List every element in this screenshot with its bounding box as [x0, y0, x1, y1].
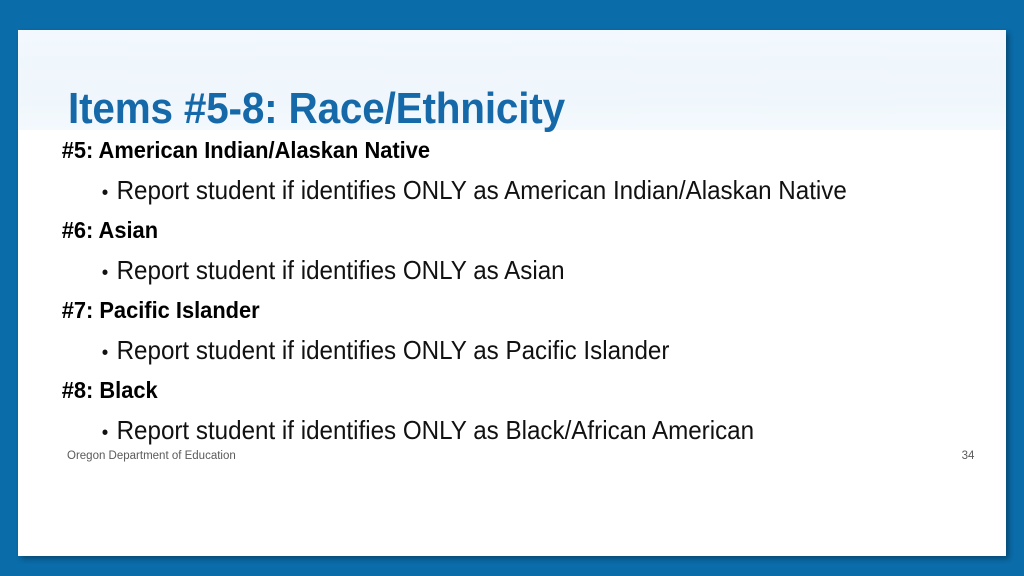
slide-card: Items #5-8: Race/Ethnicity #5: American … [18, 30, 1006, 556]
item-heading: #5: American Indian/Alaskan Native [18, 130, 957, 170]
list-item: #8: Black •Report student if identifies … [18, 370, 1006, 450]
list-item: #5: American Indian/Alaskan Native •Repo… [18, 130, 1006, 210]
item-detail-text: Report student if identifies ONLY as Bla… [117, 415, 755, 445]
footer-organization: Oregon Department of Education [67, 450, 236, 462]
item-heading: #6: Asian [18, 210, 957, 250]
item-detail-text: Report student if identifies ONLY as Pac… [117, 335, 670, 365]
item-heading: #8: Black [18, 370, 957, 410]
item-heading: #7: Pacific Islander [18, 290, 957, 330]
item-detail-text: Report student if identifies ONLY as Asi… [117, 255, 565, 285]
bullet-icon: • [102, 333, 117, 373]
bullet-icon: • [102, 173, 117, 213]
bullet-icon: • [102, 413, 117, 453]
item-detail: •Report student if identifies ONLY as As… [18, 250, 937, 290]
list-item: #6: Asian •Report student if identifies … [18, 210, 1006, 290]
item-detail: •Report student if identifies ONLY as Bl… [18, 410, 937, 450]
slide-frame: Items #5-8: Race/Ethnicity #5: American … [0, 0, 1024, 576]
slide-title: Items #5-8: Race/Ethnicity [68, 86, 565, 132]
list-item: #7: Pacific Islander •Report student if … [18, 290, 1006, 370]
item-detail: •Report student if identifies ONLY as Pa… [18, 330, 937, 370]
footer-page-number: 34 [948, 450, 988, 462]
slide-body: #5: American Indian/Alaskan Native •Repo… [18, 130, 1006, 450]
item-detail-text: Report student if identifies ONLY as Ame… [117, 175, 847, 205]
bullet-icon: • [102, 253, 117, 293]
slide-footer: Oregon Department of Education 34 [18, 450, 1006, 490]
item-detail: •Report student if identifies ONLY as Am… [18, 170, 937, 210]
